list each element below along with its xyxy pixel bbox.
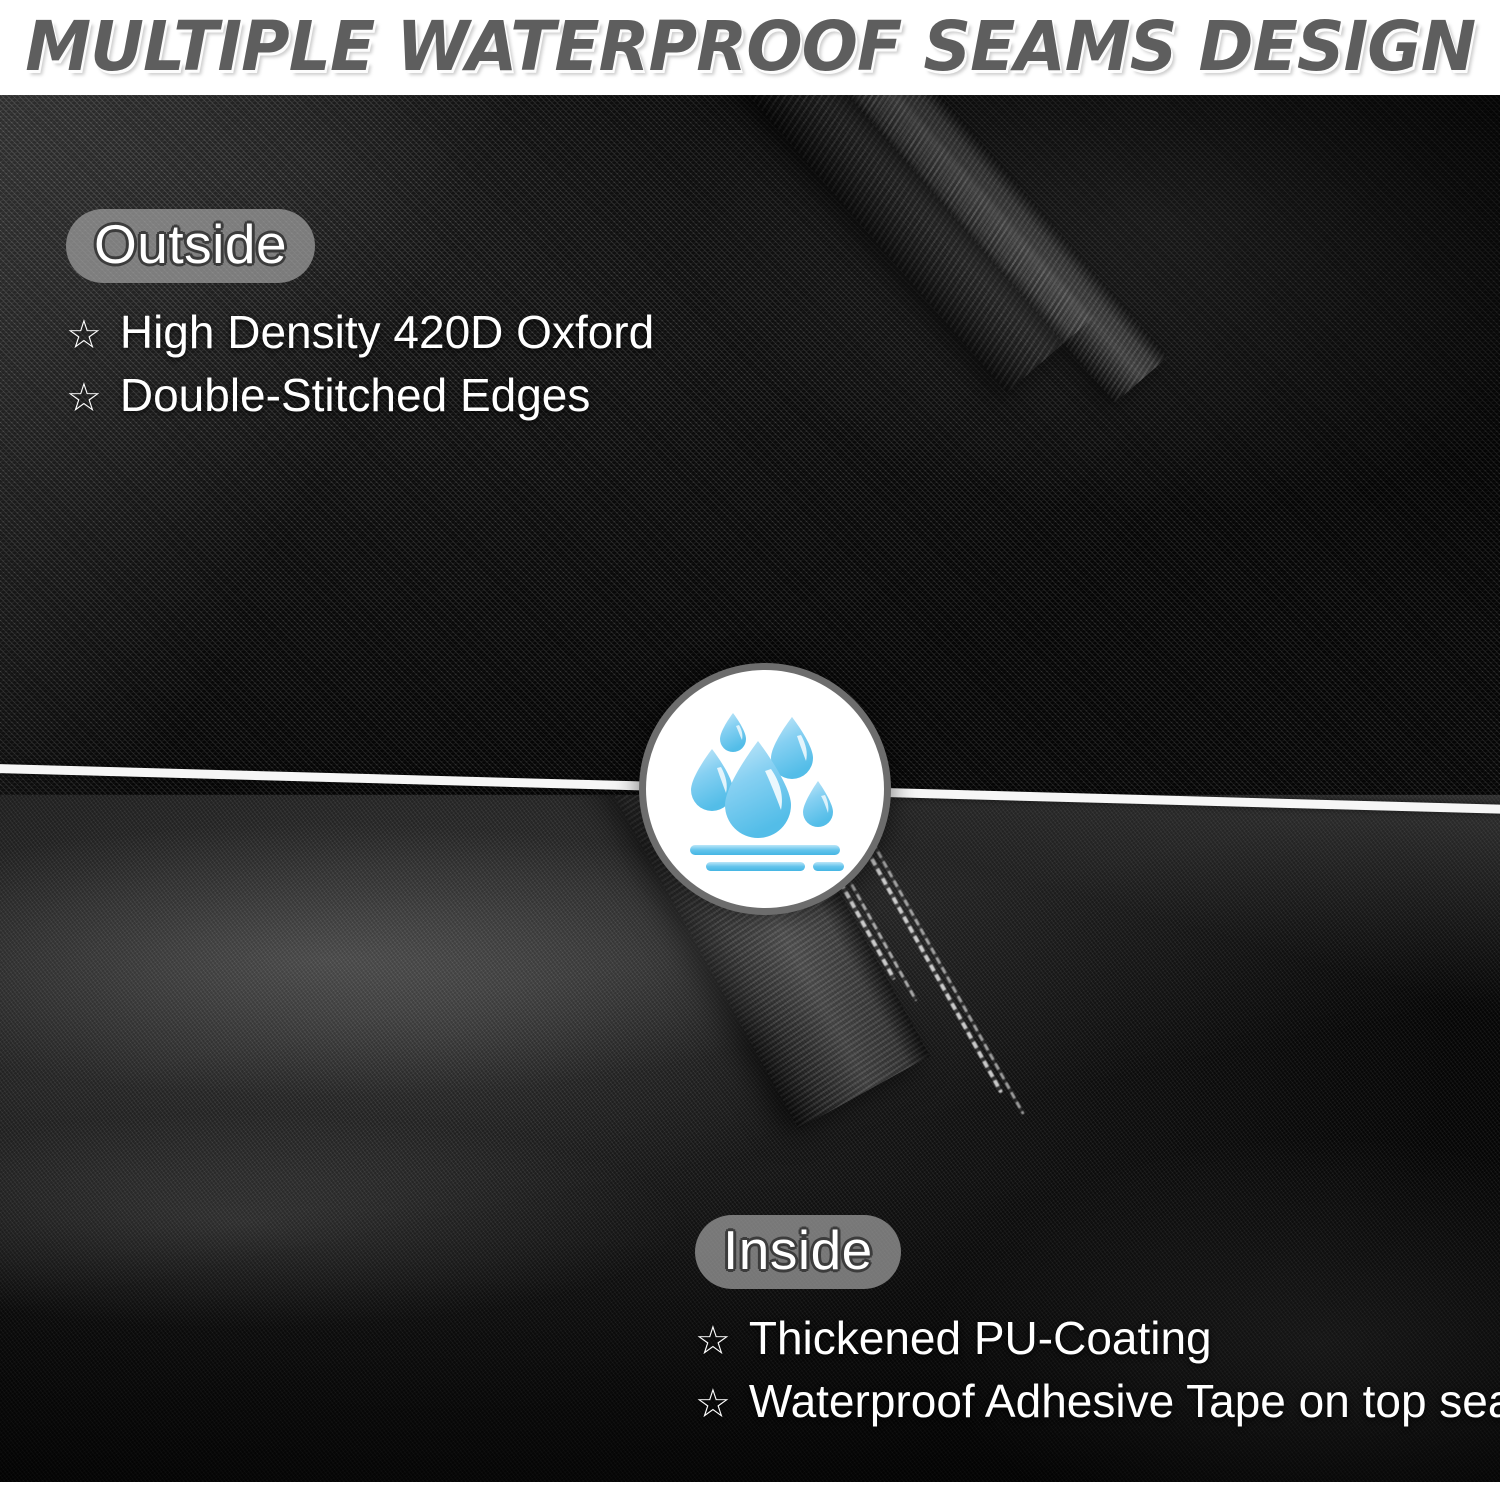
droplet-small-top [720,713,746,752]
infographic-root: MULTIPLE WATERPROOF SEAMS DESIGN Outside [0,0,1500,1500]
water-bar-short [813,862,844,871]
list-item-label: Thickened PU-Coating [749,1307,1212,1370]
list-item: ☆ Waterproof Adhesive Tape on top seams [695,1370,1500,1433]
list-item: ☆ Thickened PU-Coating [695,1307,1500,1370]
inside-callout: Inside ☆ Thickened PU-Coating ☆ Waterpro… [695,1215,1500,1432]
list-item-label: High Density 420D Oxford [120,301,654,364]
outside-callout: Outside ☆ High Density 420D Oxford ☆ Dou… [66,209,654,426]
droplet-small-right [803,781,833,827]
droplet-medium-right [771,717,813,779]
list-item-label: Waterproof Adhesive Tape on top seams [749,1370,1500,1433]
waterproof-droplets-icon [670,697,860,882]
list-item-label: Double-Stitched Edges [120,364,591,427]
title-banner: MULTIPLE WATERPROOF SEAMS DESIGN [0,0,1500,95]
list-item: ☆ High Density 420D Oxford [66,301,654,364]
water-bar-medium [706,862,805,871]
waterproof-badge [639,663,891,915]
star-icon: ☆ [695,1384,731,1424]
star-icon: ☆ [695,1321,731,1361]
outside-feature-list: ☆ High Density 420D Oxford ☆ Double-Stit… [66,301,654,426]
page-title: MULTIPLE WATERPROOF SEAMS DESIGN [25,13,1475,82]
water-bar-long [690,845,840,855]
inside-feature-list: ☆ Thickened PU-Coating ☆ Waterproof Adhe… [695,1307,1500,1432]
star-icon: ☆ [66,378,102,418]
product-photo: Outside ☆ High Density 420D Oxford ☆ Dou… [0,95,1500,1482]
star-icon: ☆ [66,315,102,355]
outside-label-badge: Outside [66,209,315,283]
list-item: ☆ Double-Stitched Edges [66,364,654,427]
inside-label-badge: Inside [695,1215,901,1289]
